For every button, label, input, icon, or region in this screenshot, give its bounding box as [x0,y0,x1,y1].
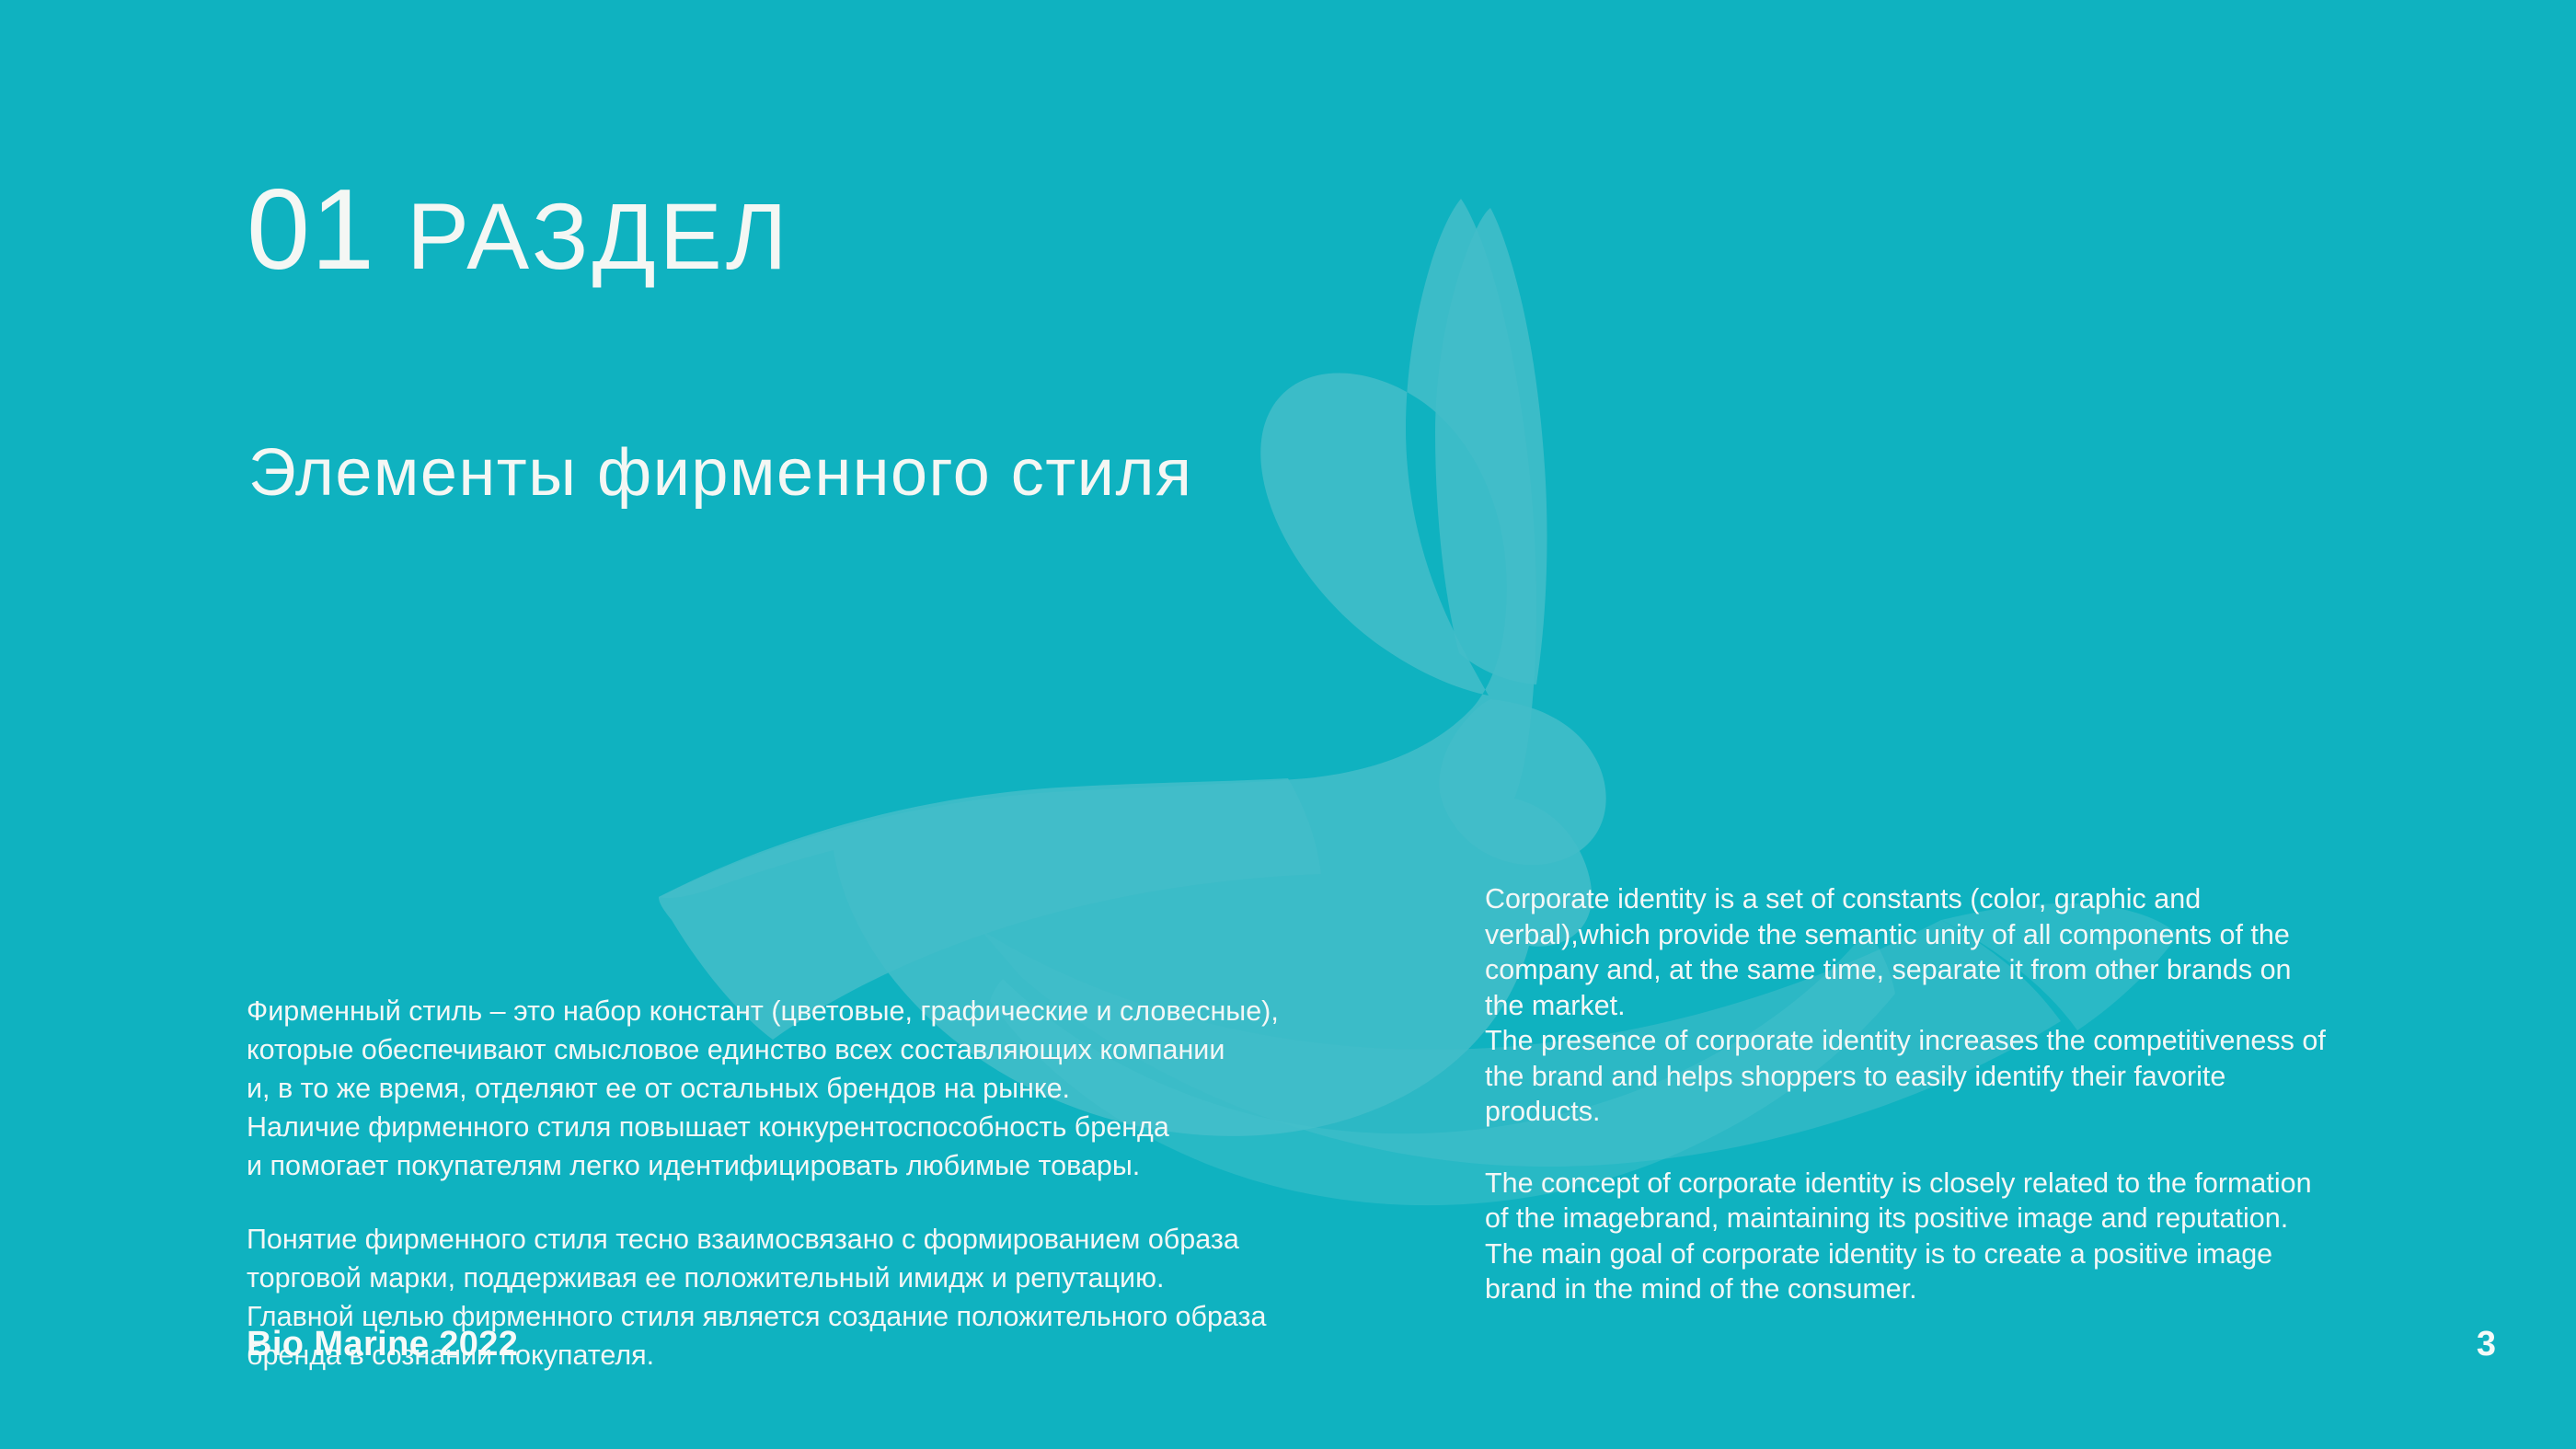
fish-fin-icon [1435,208,1547,684]
presentation-slide: 01 РАЗДЕЛ Элементы фирменного стиля Фирм… [0,0,2576,1449]
text-line: The concept of corporate identity is clo… [1485,1166,2331,1236]
text-line: The main goal of corporate identity is t… [1485,1236,2331,1307]
page-number: 3 [2477,1327,2496,1362]
body-text-english: Corporate identity is a set of constants… [1485,881,2331,1307]
section-heading: 01 РАЗДЕЛ [247,173,791,287]
text-line: которые обеспечивают смысловое единство … [247,1030,1397,1069]
text-line: Наличие фирменного стиля повышает конкур… [247,1108,1397,1146]
paragraph: The concept of corporate identity is clo… [1485,1166,2331,1307]
footer-brand: Bio Marine 2022 [247,1327,518,1362]
body-text-russian: Фирменный стиль – это набор констант (цв… [247,992,1397,1374]
text-line: Corporate identity is a set of constants… [1485,881,2331,1023]
fish-head-icon [1439,699,1605,865]
text-line: и, в то же время, отделяют ее от остальн… [247,1069,1397,1108]
section-label: РАЗДЕЛ [407,190,791,283]
paragraph: Corporate identity is a set of constants… [1485,881,2331,1130]
text-line: The presence of corporate identity incre… [1485,1023,2331,1130]
section-number: 01 [247,173,375,287]
text-line: Понятие фирменного стиля тесно взаимосвя… [247,1220,1397,1259]
paragraph: Фирменный стиль – это набор констант (цв… [247,992,1397,1185]
page-title: Элементы фирменного стиля [248,440,1192,506]
text-line: Фирменный стиль – это набор констант (цв… [247,992,1397,1030]
text-line: торговой марки, поддерживая ее положител… [247,1259,1397,1297]
text-line: и помогает покупателям легко идентифицир… [247,1146,1397,1185]
